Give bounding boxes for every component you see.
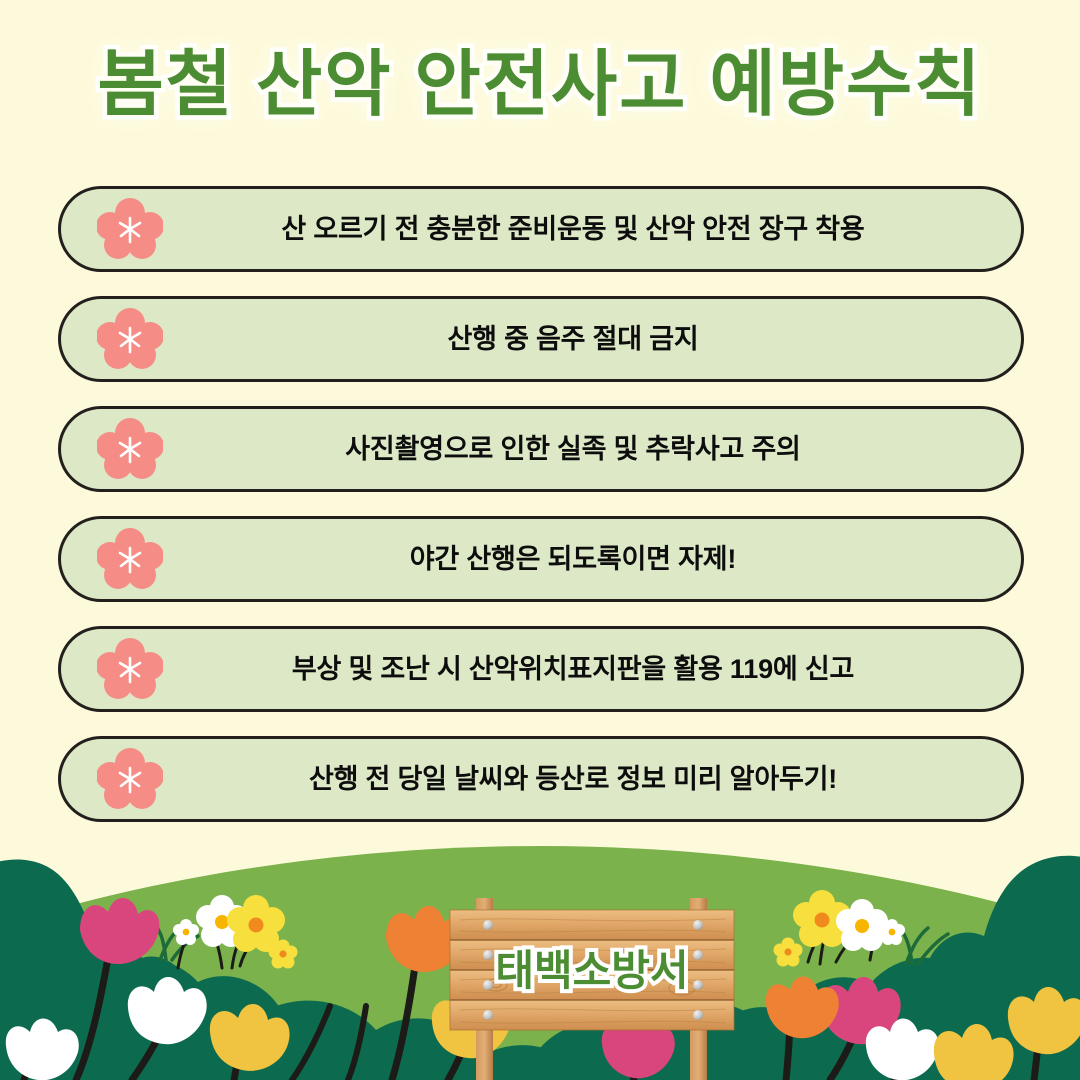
list-item-label: 산 오르기 전 충분한 준비운동 및 산악 안전 장구 착용 [61, 213, 1021, 245]
safety-rules-list: 산 오르기 전 충분한 준비운동 및 산악 안전 장구 착용 [58, 186, 1024, 822]
list-item[interactable]: 부상 및 조난 시 산악위치표지판을 활용 119에 신고 [58, 626, 1024, 712]
list-item-label: 산행 중 음주 절대 금지 [61, 323, 1021, 355]
list-item[interactable]: 야간 산행은 되도록이면 자제! [58, 516, 1024, 602]
list-item[interactable]: 사진촬영으로 인한 실족 및 추락사고 주의 [58, 406, 1024, 492]
cherry-blossom-icon [97, 528, 163, 590]
list-item-label: 사진촬영으로 인한 실족 및 추락사고 주의 [61, 433, 1021, 465]
list-item-label: 부상 및 조난 시 산악위치표지판을 활용 119에 신고 [61, 653, 1021, 685]
cherry-blossom-icon [97, 308, 163, 370]
list-item[interactable]: 산행 중 음주 절대 금지 [58, 296, 1024, 382]
cherry-blossom-icon [97, 638, 163, 700]
cherry-blossom-icon [97, 418, 163, 480]
cherry-blossom-icon [97, 198, 163, 260]
list-item[interactable]: 산 오르기 전 충분한 준비운동 및 산악 안전 장구 착용 [58, 186, 1024, 272]
page-title: 봄철 산악 안전사고 예방수칙 [98, 40, 983, 130]
wooden-signboard[interactable]: 태백소방서 [432, 890, 752, 1080]
poster-title-container: 봄철 산악 안전사고 예방수칙 [0, 40, 1080, 130]
cherry-blossom-icon [97, 748, 163, 810]
list-item-label: 산행 전 당일 날씨와 등산로 정보 미리 알아두기! [61, 763, 1021, 795]
organization-name: 태백소방서 [432, 948, 752, 994]
poster-canvas: 봄철 산악 안전사고 예방수칙 [0, 0, 1080, 1080]
list-item-label: 야간 산행은 되도록이면 자제! [61, 543, 1021, 575]
list-item[interactable]: 산행 전 당일 날씨와 등산로 정보 미리 알아두기! [58, 736, 1024, 822]
